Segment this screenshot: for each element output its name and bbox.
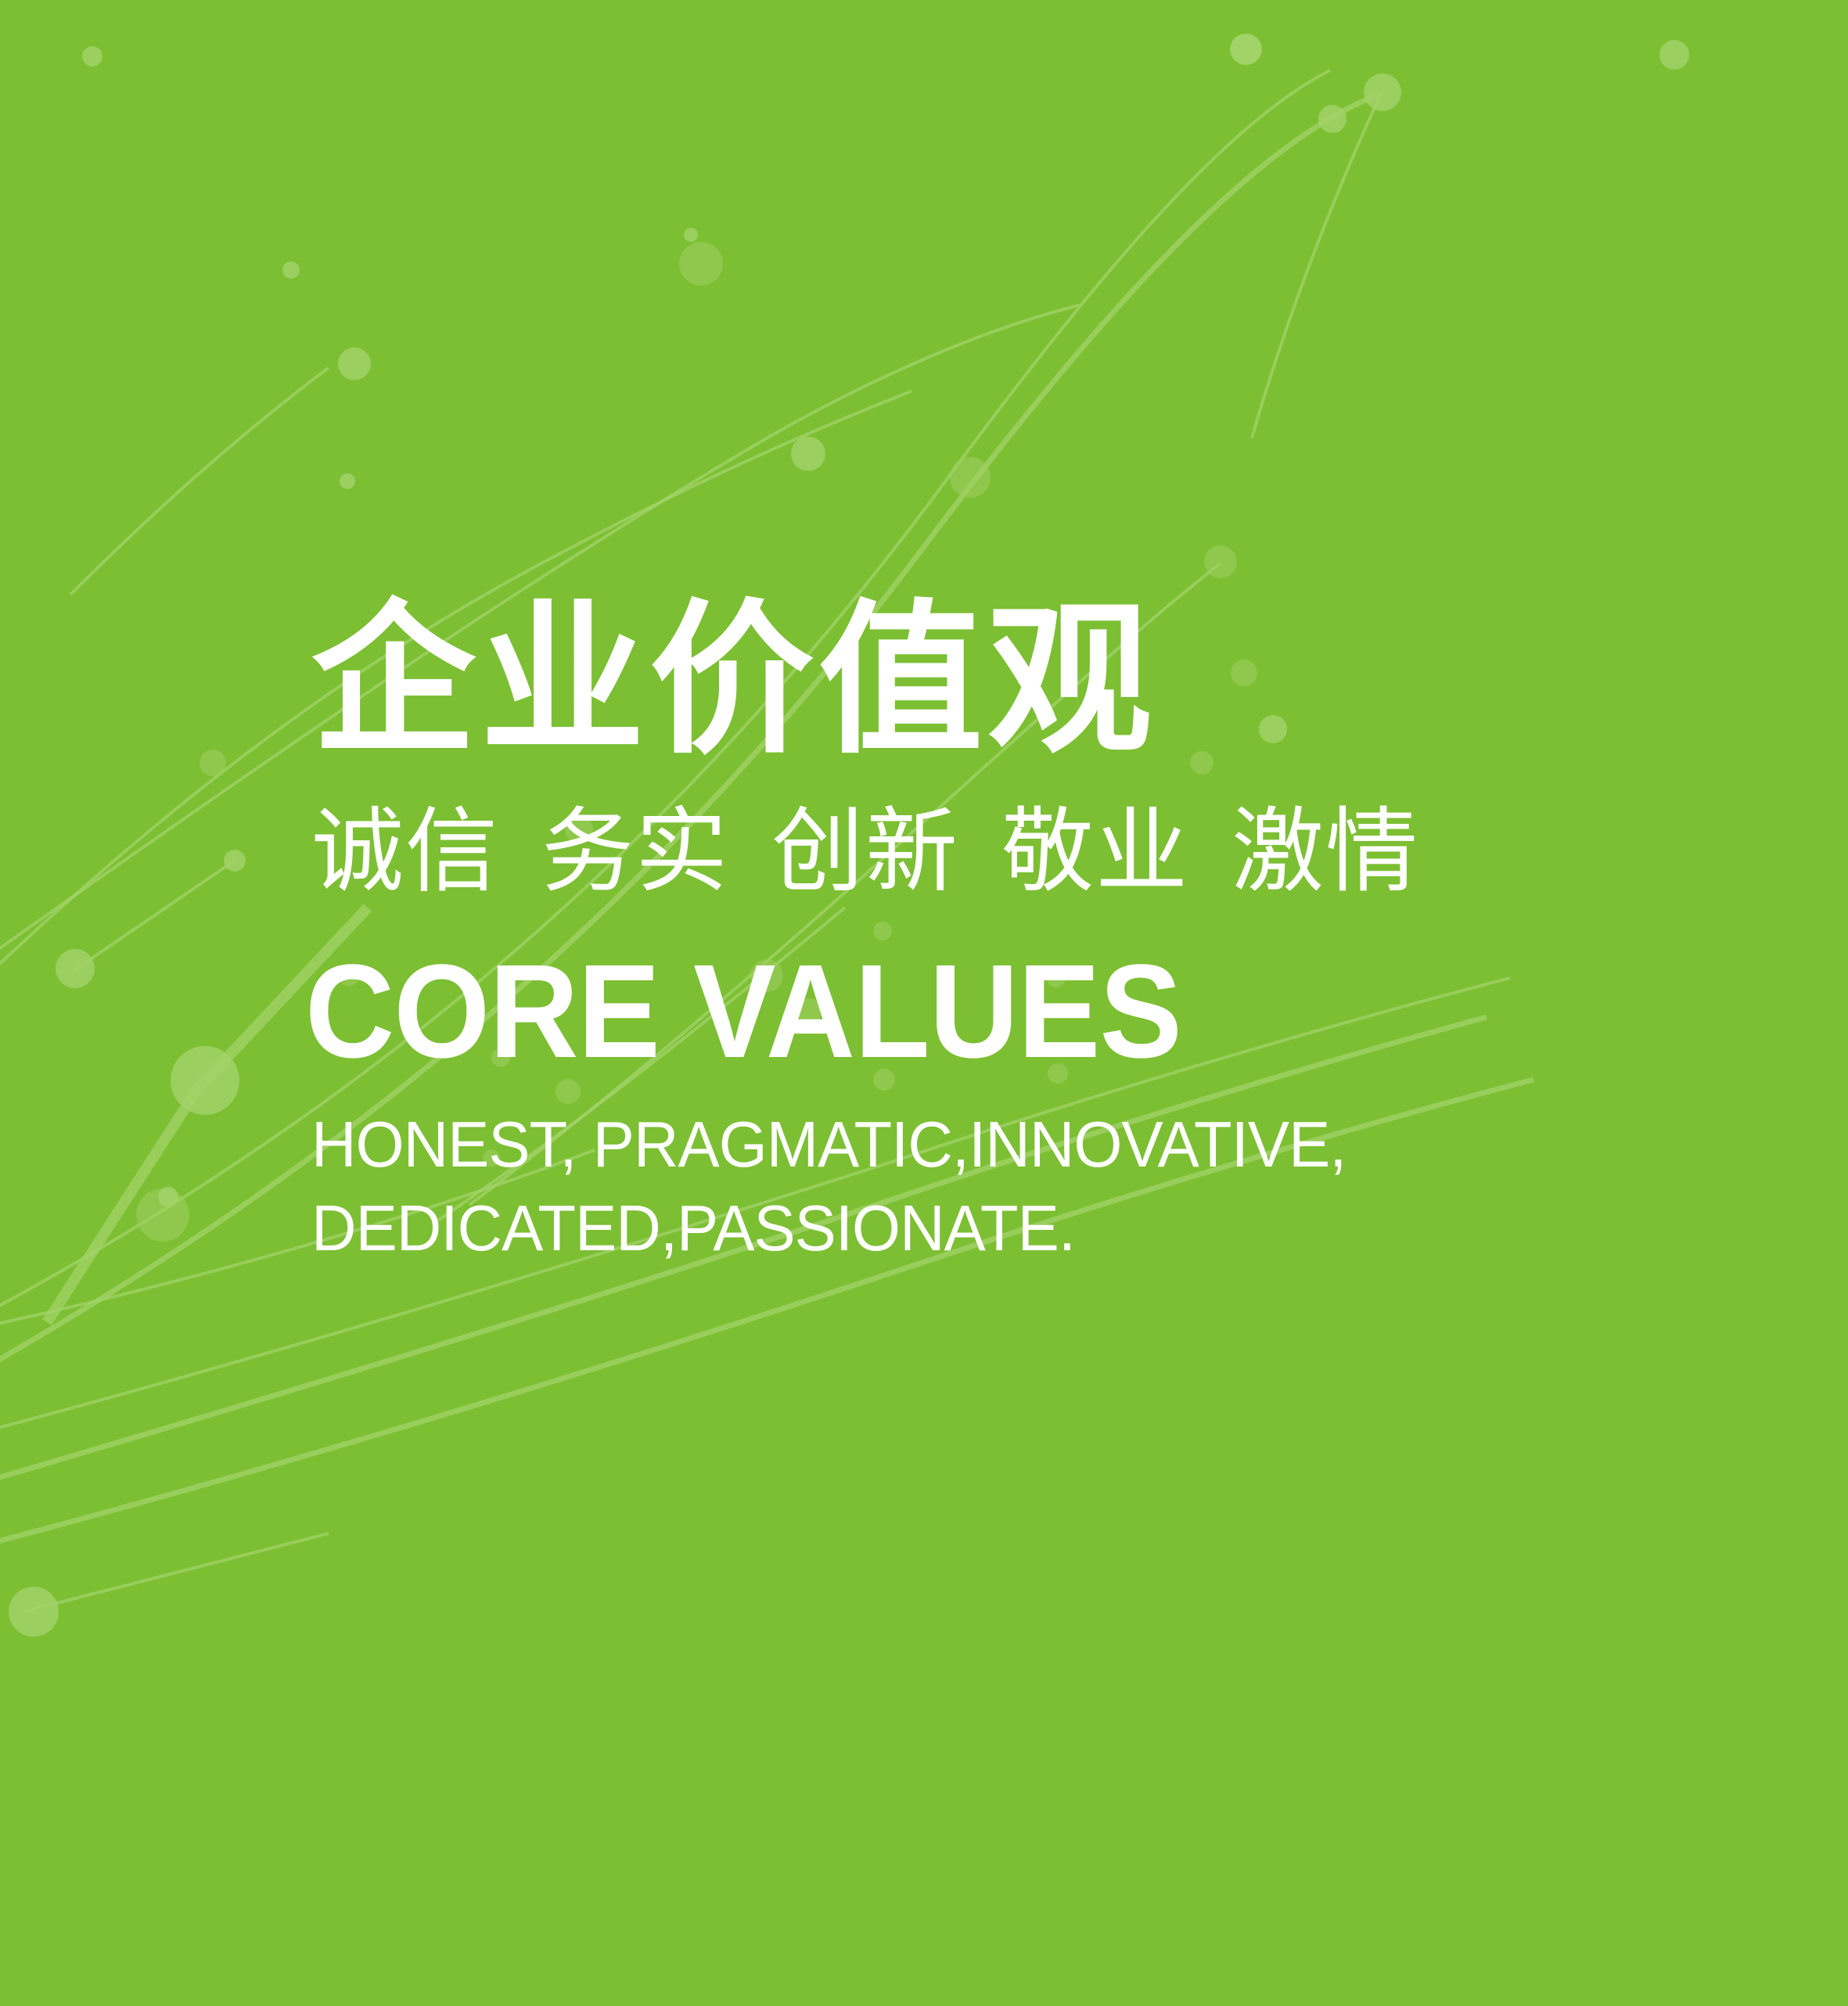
chinese-values-list: 诚信务实创新敬业激情 [311,802,1720,904]
english-values-line-1: HONEST, PRAGMATIC,INNOVATIVE, [311,1103,1663,1186]
poster-text-block: 企业价值观 诚信务实创新敬业激情 CORE VALUES HONEST, PRA… [311,595,1720,1270]
chinese-value-item: 激情 [1231,800,1419,904]
page-title-english: CORE VALUES [305,945,1620,1078]
chinese-value-item: 敬业 [1001,800,1189,904]
english-values-line-2: DEDICATED,PASSIONATE. [311,1187,1663,1270]
chinese-value-item: 创新 [771,800,959,904]
core-values-poster: .ln { fill: none; stroke: #a3d36a; strok… [0,0,1848,2006]
page-title-chinese: 企业价值观 [311,595,1720,768]
chinese-value-item: 诚信 [311,800,499,904]
english-values-paragraph: HONEST, PRAGMATIC,INNOVATIVE, DEDICATED,… [311,1103,1663,1269]
chinese-value-item: 务实 [541,800,729,904]
